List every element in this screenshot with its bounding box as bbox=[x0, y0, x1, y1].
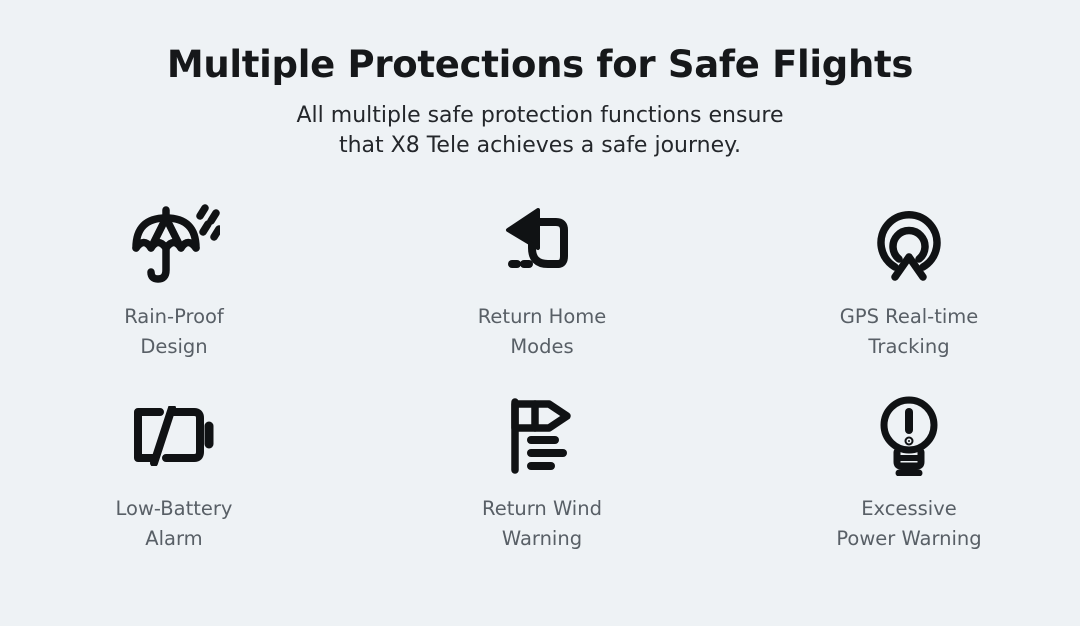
lightbulb-alert-icon bbox=[877, 388, 941, 484]
feature-label-line-2: Design bbox=[124, 332, 224, 362]
feature-item-rain-proof: Rain-Proof Design bbox=[0, 196, 360, 388]
gps-signal-icon bbox=[873, 196, 945, 292]
feature-label-line-2: Alarm bbox=[116, 524, 233, 554]
feature-label-line-1: Low-Battery bbox=[116, 494, 233, 524]
wind-flag-icon bbox=[505, 388, 579, 484]
page-subtitle: All multiple safe protection functions e… bbox=[0, 101, 1080, 162]
feature-label-line-2: Tracking bbox=[840, 332, 979, 362]
feature-item-power-warning: Excessive Power Warning bbox=[720, 388, 1080, 580]
feature-label-wind-warning: Return Wind Warning bbox=[482, 494, 602, 554]
feature-label-line-2: Warning bbox=[482, 524, 602, 554]
feature-label-line-1: Excessive bbox=[836, 494, 981, 524]
feature-label-low-battery: Low-Battery Alarm bbox=[116, 494, 233, 554]
return-arrow-icon bbox=[502, 196, 582, 292]
feature-label-power-warning: Excessive Power Warning bbox=[836, 494, 981, 554]
feature-label-gps-tracking: GPS Real-time Tracking bbox=[840, 302, 979, 362]
feature-label-line-1: Rain-Proof bbox=[124, 302, 224, 332]
feature-label-line-1: Return Home bbox=[478, 302, 607, 332]
feature-label-line-1: GPS Real-time bbox=[840, 302, 979, 332]
feature-item-return-home: Return Home Modes bbox=[360, 196, 720, 388]
subtitle-line-1: All multiple safe protection functions e… bbox=[0, 101, 1080, 131]
feature-grid: Rain-Proof Design Return Home bbox=[0, 196, 1080, 580]
feature-item-gps-tracking: GPS Real-time Tracking bbox=[720, 196, 1080, 388]
feature-label-line-2: Modes bbox=[478, 332, 607, 362]
page-header: Multiple Protections for Safe Flights Al… bbox=[0, 0, 1080, 161]
feature-label-rain-proof: Rain-Proof Design bbox=[124, 302, 224, 362]
feature-item-low-battery: Low-Battery Alarm bbox=[0, 388, 360, 580]
subtitle-line-2: that X8 Tele achieves a safe journey. bbox=[0, 131, 1080, 161]
page-title: Multiple Protections for Safe Flights bbox=[0, 44, 1080, 87]
feature-label-line-2: Power Warning bbox=[836, 524, 981, 554]
low-battery-icon bbox=[130, 388, 218, 484]
feature-item-wind-warning: Return Wind Warning bbox=[360, 388, 720, 580]
feature-label-line-1: Return Wind bbox=[482, 494, 602, 524]
umbrella-rain-icon bbox=[128, 196, 220, 292]
promo-panel: Multiple Protections for Safe Flights Al… bbox=[0, 0, 1080, 626]
feature-label-return-home: Return Home Modes bbox=[478, 302, 607, 362]
